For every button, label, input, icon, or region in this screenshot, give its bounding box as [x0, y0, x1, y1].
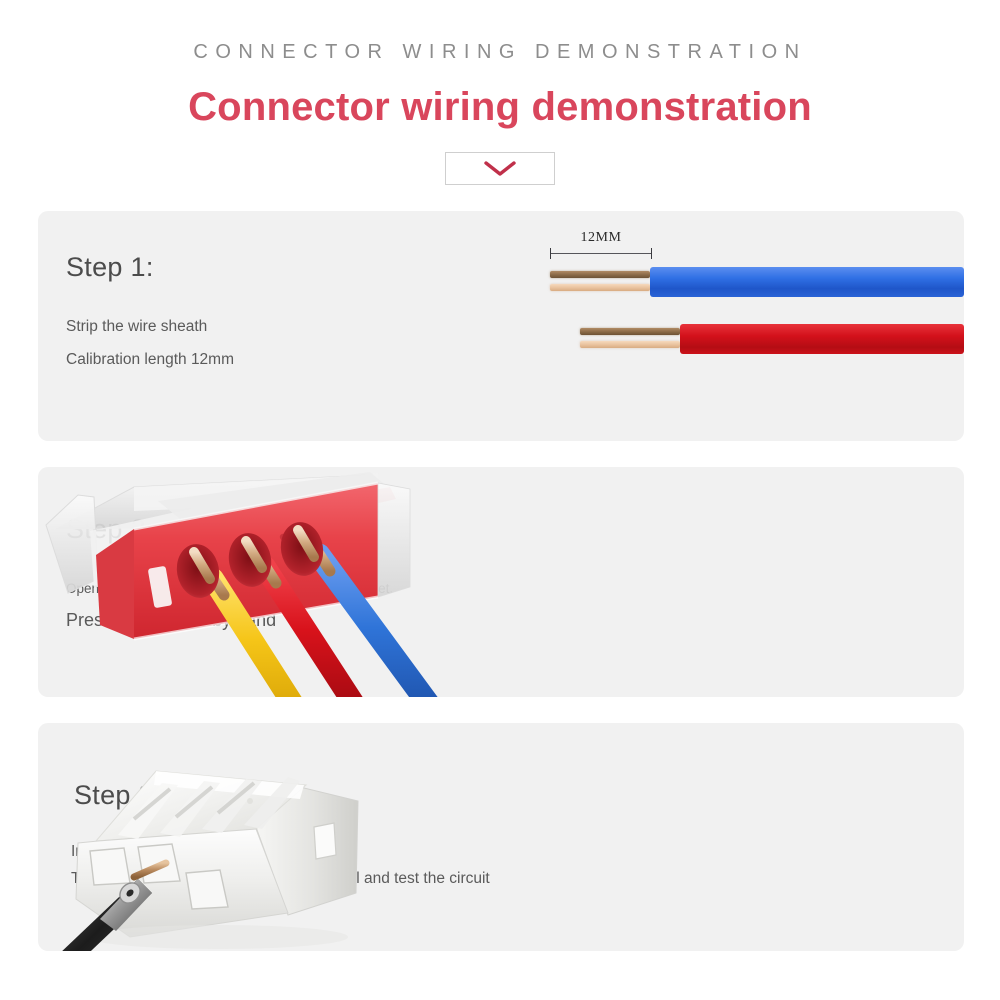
dimension-label: 12MM [550, 231, 652, 245]
blue-wire-assembly [550, 267, 964, 297]
header-eyebrow: CONNECTOR WIRING DEMONSTRATION [0, 42, 1000, 62]
page-header: CONNECTOR WIRING DEMONSTRATION Connector… [0, 0, 1000, 185]
conductor-strand-upper [580, 328, 680, 335]
red-connector-photo [38, 467, 964, 697]
hole-1 [90, 848, 130, 885]
dimension-tick-right [651, 248, 652, 259]
conductor-strand-upper [550, 271, 650, 278]
dimension-marker-12mm: 12MM [550, 231, 652, 259]
dimension-tick-left [550, 248, 551, 259]
clear-connector-photo [38, 723, 964, 951]
red-wire-stripped-conductor [580, 326, 680, 352]
step-card-2: Step 2: Open the booster and insert the … [38, 467, 964, 697]
expand-toggle-button[interactable] [445, 152, 555, 185]
conductor-strand-lower [550, 284, 650, 291]
page-title: Connector wiring demonstration [0, 84, 1000, 130]
conductor-strand-lower [580, 341, 680, 348]
step-card-3: Step 3: Insert the pen after connecting … [38, 723, 964, 951]
red-wire-sheath [680, 324, 964, 354]
wire-strip-diagram: 12MM [38, 211, 964, 441]
dimension-bar [550, 248, 652, 259]
blue-wire-stripped-conductor [550, 269, 650, 295]
step-card-1: Step 1: Strip the wire sheath Calibratio… [38, 211, 964, 441]
red-wire-assembly [580, 324, 964, 354]
hole-3 [186, 870, 228, 909]
chevron-down-icon [483, 160, 517, 178]
blue-wire-sheath [650, 267, 964, 297]
